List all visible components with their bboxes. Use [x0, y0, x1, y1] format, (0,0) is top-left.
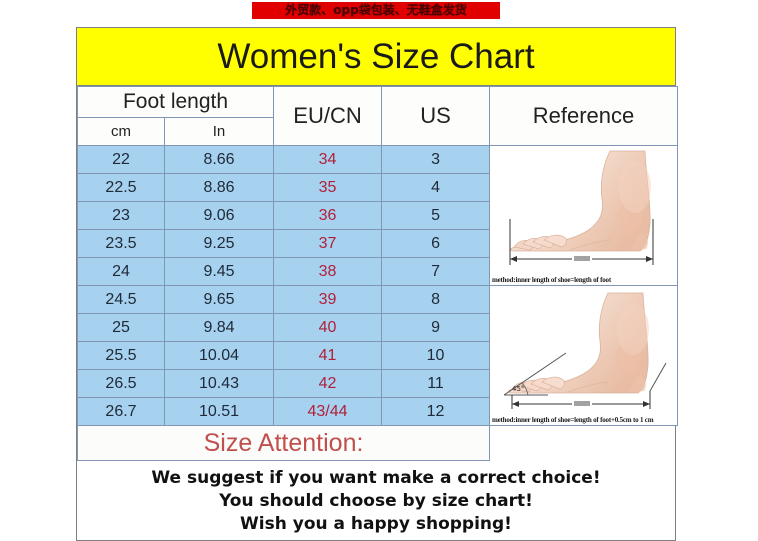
size-attention-heading: Size Attention: [78, 426, 490, 461]
table-row: 22 8.66 34 3 [78, 146, 678, 174]
cell-us: 4 [382, 174, 490, 202]
header-foot-length: Foot length [78, 87, 274, 118]
cell-cm: 22.5 [78, 174, 165, 202]
cell-eu: 39 [274, 286, 382, 314]
cell-in: 10.43 [165, 370, 274, 398]
cell-in: 9.65 [165, 286, 274, 314]
cell-in: 9.84 [165, 314, 274, 342]
header-in: In [165, 118, 274, 146]
reference-image-2: 45° method:inner length o [490, 287, 677, 425]
attention-footer: We suggest if you want make a correct ch… [77, 461, 675, 540]
cell-eu: 40 [274, 314, 382, 342]
cell-eu: 42 [274, 370, 382, 398]
cell-cm: 22 [78, 146, 165, 174]
cell-us: 7 [382, 258, 490, 286]
cell-cm: 23.5 [78, 230, 165, 258]
reference-image-2-cell: 45° method:inner length o [490, 286, 678, 426]
cell-cm: 23 [78, 202, 165, 230]
table-body: 22 8.66 34 3 [78, 146, 678, 461]
reference-image-2-caption: method:inner length of shoe=length of fo… [492, 416, 676, 424]
angle-label: 45° [512, 385, 524, 393]
chart-title-row: Women's Size Chart [77, 28, 675, 86]
attention-line-2: You should choose by size chart! [77, 490, 675, 513]
size-table: Foot length EU/CN US Reference cm In 22 … [77, 86, 678, 461]
cell-us: 5 [382, 202, 490, 230]
table-header-row-main: Foot length EU/CN US Reference [78, 87, 678, 118]
promo-banner: 外贸款、opp袋包装、无鞋盒发货 [252, 2, 500, 19]
cell-in: 9.45 [165, 258, 274, 286]
cell-eu: 43/44 [274, 398, 382, 426]
cell-in: 10.04 [165, 342, 274, 370]
cell-cm: 25.5 [78, 342, 165, 370]
cell-in: 9.06 [165, 202, 274, 230]
cell-us: 11 [382, 370, 490, 398]
cell-us: 12 [382, 398, 490, 426]
cell-eu: 38 [274, 258, 382, 286]
cell-cm: 25 [78, 314, 165, 342]
header-eu-cn: EU/CN [274, 87, 382, 146]
foot-side-view-icon [490, 147, 676, 285]
table-row: 24.5 9.65 39 8 [78, 286, 678, 314]
page-title: Women's Size Chart [217, 37, 534, 77]
cell-in: 10.51 [165, 398, 274, 426]
cell-eu: 37 [274, 230, 382, 258]
cell-us: 3 [382, 146, 490, 174]
size-chart-container: Women's Size Chart Foot length EU/CN US … [76, 27, 676, 541]
cell-cm: 24.5 [78, 286, 165, 314]
cell-eu: 36 [274, 202, 382, 230]
cell-cm: 26.7 [78, 398, 165, 426]
cell-eu: 34 [274, 146, 382, 174]
cell-cm: 24 [78, 258, 165, 286]
cell-us: 6 [382, 230, 490, 258]
header-us: US [382, 87, 490, 146]
cell-in: 8.86 [165, 174, 274, 202]
cell-eu: 41 [274, 342, 382, 370]
size-attention-row: Size Attention: [78, 426, 678, 461]
header-reference: Reference [490, 87, 678, 146]
cell-us: 9 [382, 314, 490, 342]
cell-in: 9.25 [165, 230, 274, 258]
table-header: Foot length EU/CN US Reference cm In [78, 87, 678, 146]
cell-us: 10 [382, 342, 490, 370]
reference-image-1: method:inner length of shoe=length of fo… [490, 147, 677, 285]
cell-eu: 35 [274, 174, 382, 202]
cell-in: 8.66 [165, 146, 274, 174]
header-cm: cm [78, 118, 165, 146]
attention-line-3: Wish you a happy shopping! [77, 513, 675, 536]
reference-image-1-caption: method:inner length of shoe=length of fo… [492, 276, 676, 284]
attention-line-1: We suggest if you want make a correct ch… [77, 467, 675, 490]
cell-cm: 26.5 [78, 370, 165, 398]
cell-us: 8 [382, 286, 490, 314]
foot-side-view-angled-icon: 45° [490, 287, 676, 425]
reference-image-1-cell: method:inner length of shoe=length of fo… [490, 146, 678, 286]
